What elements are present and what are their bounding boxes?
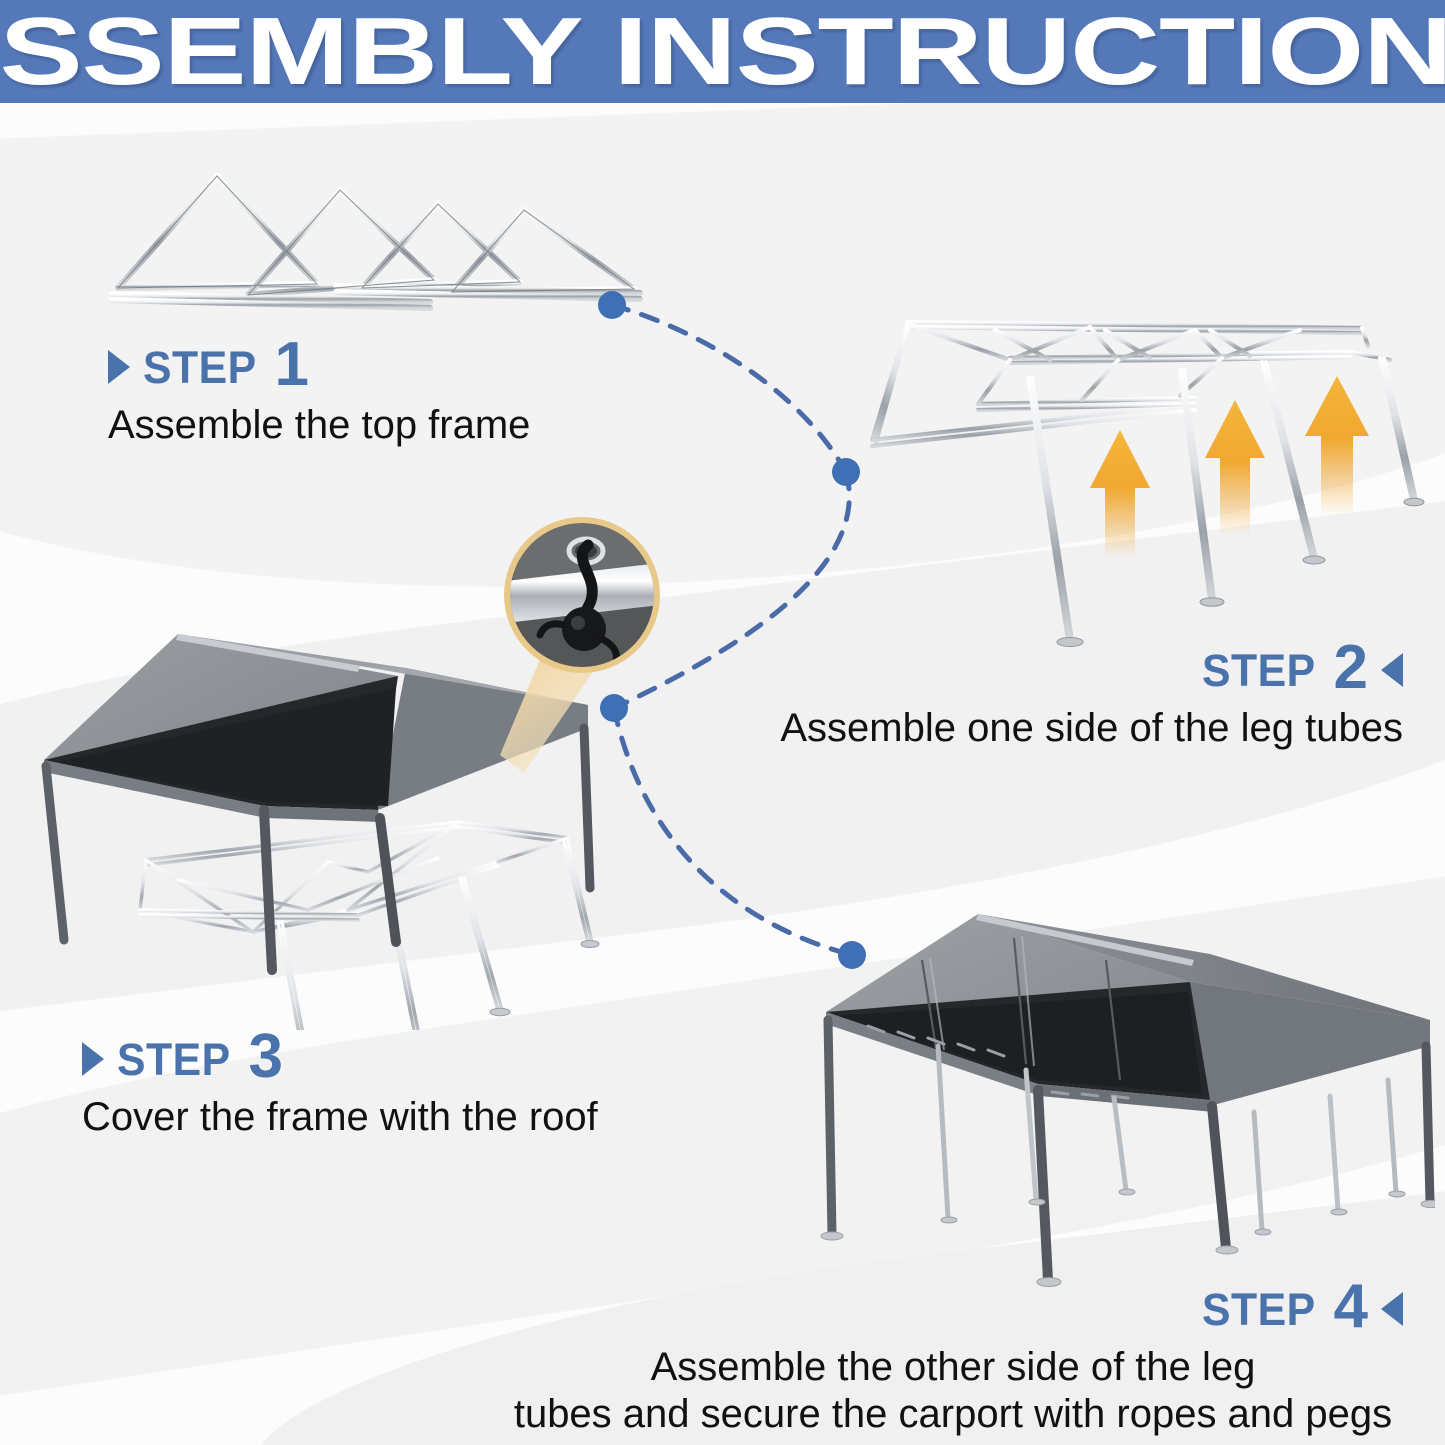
step-2-block: STEP 2 Assemble one side of the leg tube… bbox=[780, 635, 1403, 752]
triangle-right-icon bbox=[82, 1042, 104, 1076]
step-2-number: 2 bbox=[1334, 639, 1368, 697]
step-4-number: 4 bbox=[1334, 1278, 1368, 1336]
step-1-word: STEP bbox=[143, 345, 257, 390]
step-1-heading: STEP 1 bbox=[108, 332, 530, 390]
step-3-word: STEP bbox=[117, 1037, 231, 1082]
step-4-block: STEP 4 Assemble the other side of the le… bbox=[503, 1274, 1403, 1438]
step-3-block: STEP 3 Cover the frame with the roof bbox=[82, 1024, 598, 1141]
connector-dot bbox=[832, 458, 860, 486]
step-4-heading: STEP 4 bbox=[503, 1274, 1403, 1332]
triangle-left-icon bbox=[1381, 1292, 1403, 1326]
triangle-left-icon bbox=[1381, 653, 1403, 687]
assembly-instructions-page: ASSEMBLY INSTRUCTIONS bbox=[0, 0, 1445, 1445]
step-2-description: Assemble one side of the leg tubes bbox=[780, 705, 1403, 752]
step-4-description-line2: tubes and secure the carport with ropes … bbox=[503, 1391, 1403, 1438]
step-2-heading: STEP 2 bbox=[780, 635, 1403, 693]
connector-dot bbox=[838, 941, 866, 969]
step-4-description-line1: Assemble the other side of the leg bbox=[503, 1344, 1403, 1391]
connector-dot bbox=[600, 694, 628, 722]
step-1-number: 1 bbox=[275, 336, 309, 394]
step-3-number: 3 bbox=[249, 1028, 283, 1086]
step-4-word: STEP bbox=[1202, 1287, 1316, 1332]
step-3-heading: STEP 3 bbox=[82, 1024, 598, 1082]
triangle-right-icon bbox=[108, 350, 130, 384]
step-1-block: STEP 1 Assemble the top frame bbox=[108, 332, 530, 449]
step-3-description: Cover the frame with the roof bbox=[82, 1094, 598, 1141]
step-1-description: Assemble the top frame bbox=[108, 402, 530, 449]
connector-dot bbox=[598, 291, 626, 319]
step-2-word: STEP bbox=[1202, 648, 1316, 693]
